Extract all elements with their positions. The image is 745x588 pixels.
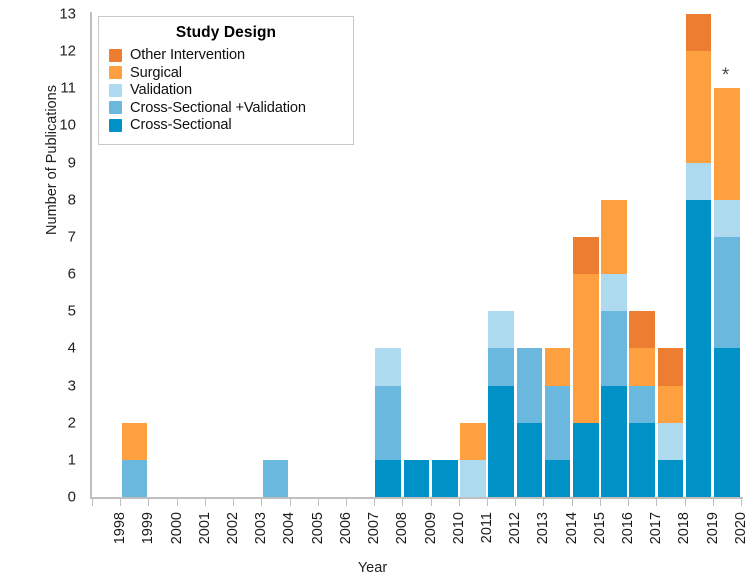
bar-segment[interactable] (573, 237, 599, 274)
legend-item-label: Cross-Sectional +Validation (130, 100, 306, 116)
bar-column[interactable] (375, 348, 401, 497)
x-tick-mark (233, 499, 234, 506)
x-tick-label: 2020 (733, 512, 745, 544)
bar-segment[interactable] (629, 386, 655, 423)
x-tick-label: 1998 (112, 512, 128, 544)
x-tick-label: 2002 (225, 512, 241, 544)
bar-segment[interactable] (263, 460, 289, 497)
x-axis-line (90, 497, 743, 499)
bar-column[interactable] (460, 423, 486, 497)
bar-segment[interactable] (686, 51, 712, 162)
bar-column[interactable] (488, 311, 514, 497)
x-tick-label: 2000 (169, 512, 185, 544)
y-tick-label: 1 (68, 452, 76, 467)
y-tick-label: 5 (68, 304, 76, 319)
bar-segment[interactable] (601, 386, 627, 497)
bar-segment[interactable] (629, 348, 655, 385)
x-tick-label: 2017 (648, 512, 664, 544)
legend-swatch-icon (109, 119, 122, 132)
bar-segment[interactable] (460, 460, 486, 497)
bar-column[interactable] (517, 348, 543, 497)
x-tick-mark (205, 499, 206, 506)
bar-segment[interactable] (686, 14, 712, 51)
bar-column[interactable] (432, 460, 458, 497)
bar-segment[interactable] (714, 88, 740, 199)
legend-swatch-icon (109, 49, 122, 62)
legend-item[interactable]: Other Intervention (109, 47, 343, 63)
bar-segment[interactable] (404, 460, 430, 497)
bar-segment[interactable] (432, 460, 458, 497)
legend-item[interactable]: Surgical (109, 65, 343, 81)
y-axis-tick-labels: 012345678910111213 (0, 0, 84, 588)
x-tick-mark (543, 499, 544, 506)
legend-swatch-icon (109, 66, 122, 79)
bar-segment[interactable] (658, 348, 684, 385)
y-tick-label: 6 (68, 267, 76, 282)
bar-segment[interactable] (601, 200, 627, 274)
x-tick-label: 2001 (197, 512, 213, 544)
x-tick-mark (92, 499, 93, 506)
bar-column[interactable] (573, 237, 599, 497)
bar-segment[interactable] (658, 460, 684, 497)
x-tick-label: 2015 (592, 512, 608, 544)
x-tick-label: 2012 (507, 512, 523, 544)
x-tick-mark (628, 499, 629, 506)
bar-segment[interactable] (122, 460, 148, 497)
bar-segment[interactable] (714, 200, 740, 237)
x-tick-label: 2018 (676, 512, 692, 544)
x-tick-mark (346, 499, 347, 506)
x-tick-label: 2006 (338, 512, 354, 544)
bar-segment[interactable] (686, 200, 712, 497)
bar-column[interactable] (629, 311, 655, 497)
legend-item[interactable]: Cross-Sectional (109, 117, 343, 133)
bar-segment[interactable] (629, 423, 655, 497)
bar-segment[interactable] (601, 311, 627, 385)
publications-by-year-chart: Number of Publications 01234567891011121… (0, 0, 745, 588)
y-tick-label: 12 (59, 44, 76, 59)
x-tick-label: 2004 (281, 512, 297, 544)
legend: Study Design Other InterventionSurgicalV… (98, 16, 354, 145)
x-tick-label: 2003 (253, 512, 269, 544)
bar-segment[interactable] (517, 348, 543, 422)
bar-column[interactable] (686, 14, 712, 497)
bar-column[interactable] (263, 460, 289, 497)
x-tick-mark (515, 499, 516, 506)
x-tick-label: 1999 (140, 512, 156, 544)
x-tick-mark (431, 499, 432, 506)
x-tick-mark (261, 499, 262, 506)
bar-segment[interactable] (375, 348, 401, 385)
bar-segment[interactable] (517, 423, 543, 497)
legend-swatch-icon (109, 84, 122, 97)
x-tick-label: 2008 (394, 512, 410, 544)
y-tick-label: 13 (59, 7, 76, 22)
legend-item-label: Surgical (130, 65, 182, 81)
legend-item-label: Cross-Sectional (130, 117, 232, 133)
x-tick-label: 2010 (451, 512, 467, 544)
bar-column[interactable] (545, 348, 571, 497)
x-tick-label: 2005 (310, 512, 326, 544)
bar-segment[interactable] (714, 348, 740, 497)
x-tick-mark (656, 499, 657, 506)
x-tick-label: 2011 (479, 512, 495, 543)
x-tick-label: 2013 (535, 512, 551, 544)
legend-item[interactable]: Cross-Sectional +Validation (109, 100, 343, 116)
y-tick-label: 7 (68, 229, 76, 244)
bar-segment[interactable] (658, 386, 684, 423)
bar-column[interactable] (122, 423, 148, 497)
x-tick-mark (374, 499, 375, 506)
x-tick-mark (572, 499, 573, 506)
x-tick-mark (487, 499, 488, 506)
x-tick-mark (600, 499, 601, 506)
x-tick-mark (713, 499, 714, 506)
x-tick-mark (459, 499, 460, 506)
x-tick-label: 2016 (620, 512, 636, 544)
y-tick-label: 4 (68, 341, 76, 356)
bar-segment[interactable] (375, 386, 401, 460)
bar-segment[interactable] (460, 423, 486, 460)
bar-segment[interactable] (375, 460, 401, 497)
bar-segment[interactable] (629, 311, 655, 348)
bar-segment[interactable] (545, 348, 571, 385)
x-axis-title: Year (0, 560, 745, 576)
bar-segment[interactable] (488, 311, 514, 348)
x-tick-mark (685, 499, 686, 506)
legend-title: Study Design (109, 24, 343, 42)
x-tick-mark (402, 499, 403, 506)
bar-segment[interactable] (545, 386, 571, 460)
y-tick-label: 2 (68, 415, 76, 430)
bar-segment[interactable] (573, 274, 599, 423)
y-tick-label: 8 (68, 192, 76, 207)
bar-segment[interactable] (122, 423, 148, 460)
bar-segment[interactable] (714, 237, 740, 348)
x-tick-mark (148, 499, 149, 506)
legend-item-label: Validation (130, 82, 192, 98)
x-tick-mark (177, 499, 178, 506)
legend-item-label: Other Intervention (130, 47, 245, 63)
asterisk-annotation: * (722, 66, 729, 85)
bar-segment[interactable] (488, 348, 514, 385)
bar-column[interactable] (601, 200, 627, 497)
bar-segment[interactable] (658, 423, 684, 460)
x-tick-label: 2014 (564, 512, 580, 544)
x-tick-mark (741, 499, 742, 506)
legend-item[interactable]: Validation (109, 82, 343, 98)
bar-column[interactable] (714, 88, 740, 497)
bar-segment[interactable] (686, 163, 712, 200)
bar-segment[interactable] (545, 460, 571, 497)
y-tick-label: 3 (68, 378, 76, 393)
x-tick-label: 2007 (366, 512, 382, 544)
x-tick-mark (120, 499, 121, 506)
x-tick-label: 2009 (423, 512, 439, 544)
bar-column[interactable] (658, 348, 684, 497)
x-tick-mark (318, 499, 319, 506)
y-tick-label: 0 (68, 490, 76, 505)
x-tick-mark (290, 499, 291, 506)
x-tick-label: 2019 (705, 512, 721, 544)
bar-segment[interactable] (573, 423, 599, 497)
y-tick-label: 11 (60, 81, 76, 96)
bar-segment[interactable] (601, 274, 627, 311)
y-tick-label: 9 (68, 155, 76, 170)
y-tick-label: 10 (59, 118, 76, 133)
legend-swatch-icon (109, 101, 122, 114)
bar-segment[interactable] (488, 386, 514, 497)
bar-column[interactable] (404, 460, 430, 497)
